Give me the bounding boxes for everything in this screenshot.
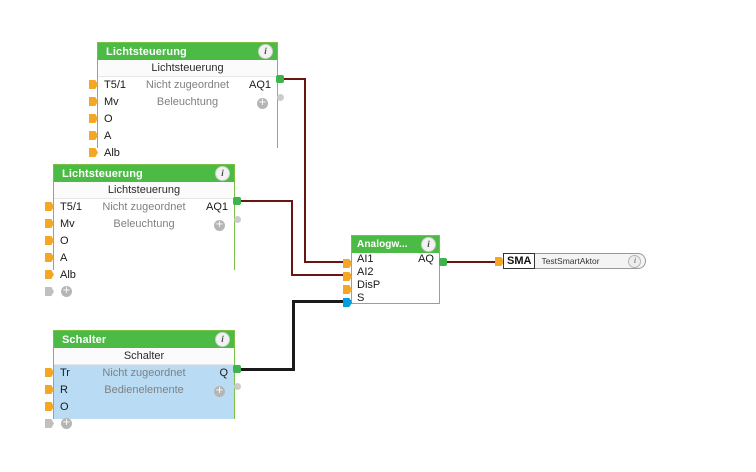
input-label-column: T5/1 Mv O A Alb <box>60 199 82 284</box>
wire-lichtsteuerung2-to-ai2-h2 <box>291 274 352 276</box>
wire-analogwert-to-sma <box>440 261 502 263</box>
input-label: O <box>60 399 70 416</box>
device-name-field[interactable]: TestSmartAktor i <box>535 253 646 269</box>
block-body: Tr R O Nicht zugeordnet Bedienelemente Q… <box>54 365 234 419</box>
input-label: DisP <box>357 279 380 292</box>
input-connector-mv[interactable] <box>45 219 54 228</box>
output-label-column: AQ1 <box>206 199 228 216</box>
input-label-column: T5/1 Mv O A Alb <box>104 77 126 162</box>
add-input-button[interactable]: + <box>61 418 72 429</box>
wire-schalter-to-s-v <box>292 300 295 371</box>
input-label: Mv <box>104 94 126 111</box>
category-label: Bedienelemente <box>54 382 234 399</box>
info-icon[interactable]: i <box>258 44 273 59</box>
input-connector-add[interactable] <box>45 287 54 296</box>
output-label: AQ <box>418 253 434 266</box>
block-schalter[interactable]: Schalter i Schalter Tr R O Nicht zugeord… <box>53 330 235 419</box>
input-label: T5/1 <box>60 199 82 216</box>
center-label-column: Nicht zugeordnet Bedienelemente <box>54 365 234 399</box>
input-connector-alb[interactable] <box>89 148 98 157</box>
input-label: Alb <box>60 267 82 284</box>
input-connector-t51[interactable] <box>45 202 54 211</box>
output-connector-aq1[interactable] <box>233 197 241 205</box>
block-header[interactable]: Analogw... i <box>352 236 439 253</box>
input-label: A <box>104 128 126 145</box>
input-connector-o[interactable] <box>89 114 98 123</box>
input-connector-a[interactable] <box>89 131 98 140</box>
wire-lichtsteuerung2-to-ai2-v <box>291 200 293 276</box>
input-connector-a[interactable] <box>45 253 54 262</box>
add-output-button[interactable]: + <box>214 386 225 397</box>
add-input-button[interactable]: + <box>61 286 72 297</box>
device-tag: SMA <box>503 253 535 269</box>
input-connector-s[interactable] <box>343 298 352 307</box>
block-body: AI1 AI2 DisP S AQ <box>352 253 439 302</box>
input-label: AI2 <box>357 266 380 279</box>
input-label: Mv <box>60 216 82 233</box>
output-label: AQ1 <box>249 77 271 94</box>
info-icon[interactable]: i <box>421 237 436 252</box>
output-connector-aq1[interactable] <box>276 75 284 83</box>
block-body: T5/1 Mv O A Alb Nicht zugeordnet Beleuch… <box>54 199 234 270</box>
block-analogwert[interactable]: Analogw... i AI1 AI2 DisP S AQ <box>351 235 440 304</box>
input-label: S <box>357 292 380 305</box>
input-connector-o[interactable] <box>45 236 54 245</box>
block-subtitle: Lichtsteuerung <box>98 60 277 77</box>
input-label: O <box>60 233 82 250</box>
input-connector-t51[interactable] <box>89 80 98 89</box>
input-label: A <box>60 250 82 267</box>
input-connector-disp[interactable] <box>343 285 352 294</box>
block-lichtsteuerung-1[interactable]: Lichtsteuerung i Lichtsteuerung T5/1 Mv … <box>97 42 278 148</box>
output-label-column: AQ <box>418 253 434 266</box>
input-connector-o[interactable] <box>45 402 54 411</box>
input-connector-ai1[interactable] <box>343 259 352 268</box>
block-body: T5/1 Mv O A Alb Nicht zugeordnet Beleuch… <box>98 77 277 148</box>
block-title: Analogw... <box>357 239 408 250</box>
output-connector-aq[interactable] <box>439 258 447 266</box>
info-icon[interactable]: i <box>628 255 641 268</box>
input-connector-add[interactable] <box>45 419 54 428</box>
input-connector-alb[interactable] <box>45 270 54 279</box>
input-label: Tr <box>60 365 70 382</box>
block-subtitle: Schalter <box>54 348 234 365</box>
input-label-column: AI1 AI2 DisP S <box>357 253 380 305</box>
input-label: Alb <box>104 145 126 162</box>
input-label: T5/1 <box>104 77 126 94</box>
wire-lichtsteuerung1-to-ai1-v <box>304 78 306 263</box>
block-header[interactable]: Lichtsteuerung i <box>98 43 277 60</box>
input-label: AI1 <box>357 253 380 266</box>
block-header[interactable]: Schalter i <box>54 331 234 348</box>
output-label-column: Q <box>219 365 228 382</box>
block-lichtsteuerung-2[interactable]: Lichtsteuerung i Lichtsteuerung T5/1 Mv … <box>53 164 235 270</box>
output-connector-q[interactable] <box>233 365 241 373</box>
block-title: Lichtsteuerung <box>106 46 187 58</box>
add-output-button[interactable]: + <box>257 98 268 109</box>
input-label-column: Tr R O <box>60 365 70 416</box>
assignment-label: Nicht zugeordnet <box>54 365 234 382</box>
block-title: Schalter <box>62 334 106 346</box>
output-connector-add[interactable] <box>234 216 241 223</box>
input-connector-tr[interactable] <box>45 368 54 377</box>
block-header[interactable]: Lichtsteuerung i <box>54 165 234 182</box>
device-name: TestSmartAktor <box>541 256 599 266</box>
output-label: AQ1 <box>206 199 228 216</box>
output-connector-add[interactable] <box>234 383 241 390</box>
output-connector-add[interactable] <box>277 94 284 101</box>
wire-lichtsteuerung2-to-ai2-h1 <box>235 200 293 202</box>
block-title: Lichtsteuerung <box>62 168 143 180</box>
device-sma[interactable]: SMA TestSmartAktor i <box>503 253 646 269</box>
output-label-column: AQ1 <box>249 77 271 94</box>
input-label: R <box>60 382 70 399</box>
input-label: O <box>104 111 126 128</box>
input-connector-r[interactable] <box>45 385 54 394</box>
diagram-canvas: Lichtsteuerung i Lichtsteuerung T5/1 Mv … <box>0 0 756 472</box>
add-output-button[interactable]: + <box>214 220 225 231</box>
info-icon[interactable]: i <box>215 166 230 181</box>
output-label: Q <box>219 365 228 382</box>
wire-schalter-to-s-h1 <box>235 368 295 371</box>
input-connector-mv[interactable] <box>89 97 98 106</box>
block-subtitle: Lichtsteuerung <box>54 182 234 199</box>
info-icon[interactable]: i <box>215 332 230 347</box>
input-connector-ai2[interactable] <box>343 272 352 281</box>
